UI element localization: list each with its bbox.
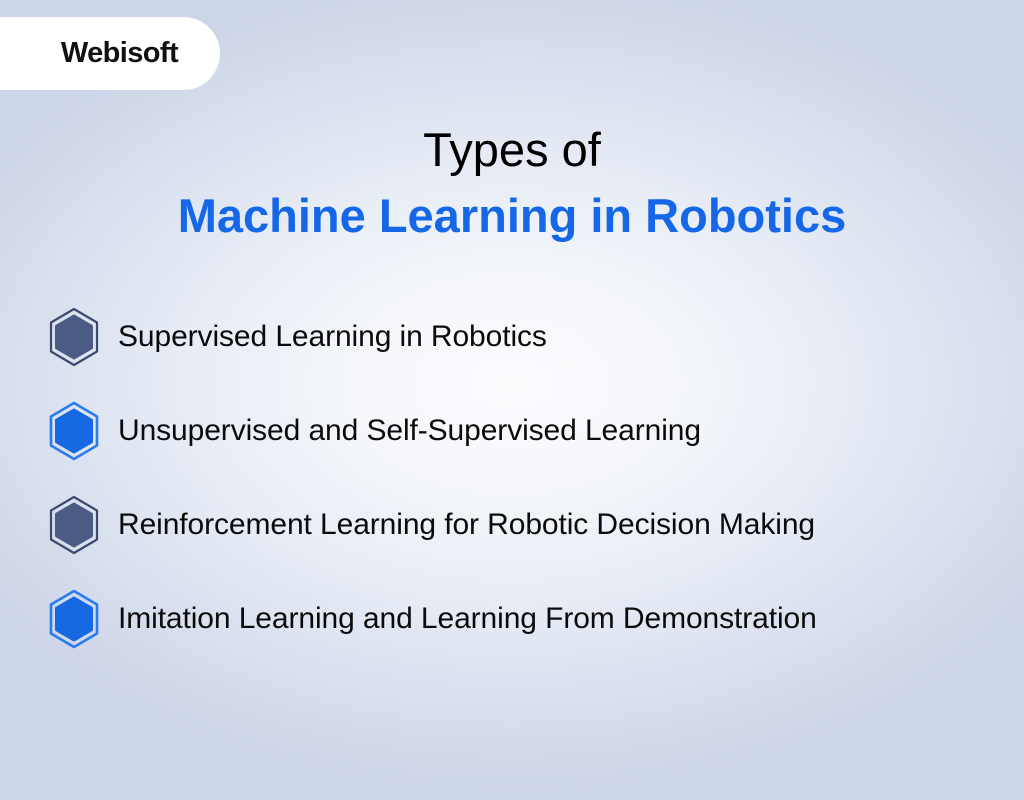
brand-logo-badge: Webisoft	[0, 17, 220, 90]
hexagon-icon	[46, 401, 102, 461]
page-title-line-2: Machine Learning in Robotics	[0, 186, 1024, 246]
hexagon-icon	[46, 495, 102, 555]
page-title: Types of Machine Learning in Robotics	[0, 120, 1024, 246]
list-item: Reinforcement Learning for Robotic Decis…	[46, 494, 1016, 556]
list-item: Imitation Learning and Learning From Dem…	[46, 588, 1016, 650]
hexagon-icon	[46, 589, 102, 649]
slide-canvas: Webisoft Types of Machine Learning in Ro…	[0, 0, 1024, 800]
list-item-label: Supervised Learning in Robotics	[118, 320, 547, 354]
hexagon-icon	[46, 307, 102, 367]
types-list: Supervised Learning in Robotics Unsuperv…	[46, 306, 1016, 682]
list-item: Unsupervised and Self-Supervised Learnin…	[46, 400, 1016, 462]
list-item-label: Unsupervised and Self-Supervised Learnin…	[118, 414, 701, 448]
brand-logo-text: Webisoft	[61, 37, 178, 70]
page-title-line-1: Types of	[0, 120, 1024, 180]
list-item-label: Reinforcement Learning for Robotic Decis…	[118, 508, 815, 542]
list-item: Supervised Learning in Robotics	[46, 306, 1016, 368]
list-item-label: Imitation Learning and Learning From Dem…	[118, 602, 817, 636]
